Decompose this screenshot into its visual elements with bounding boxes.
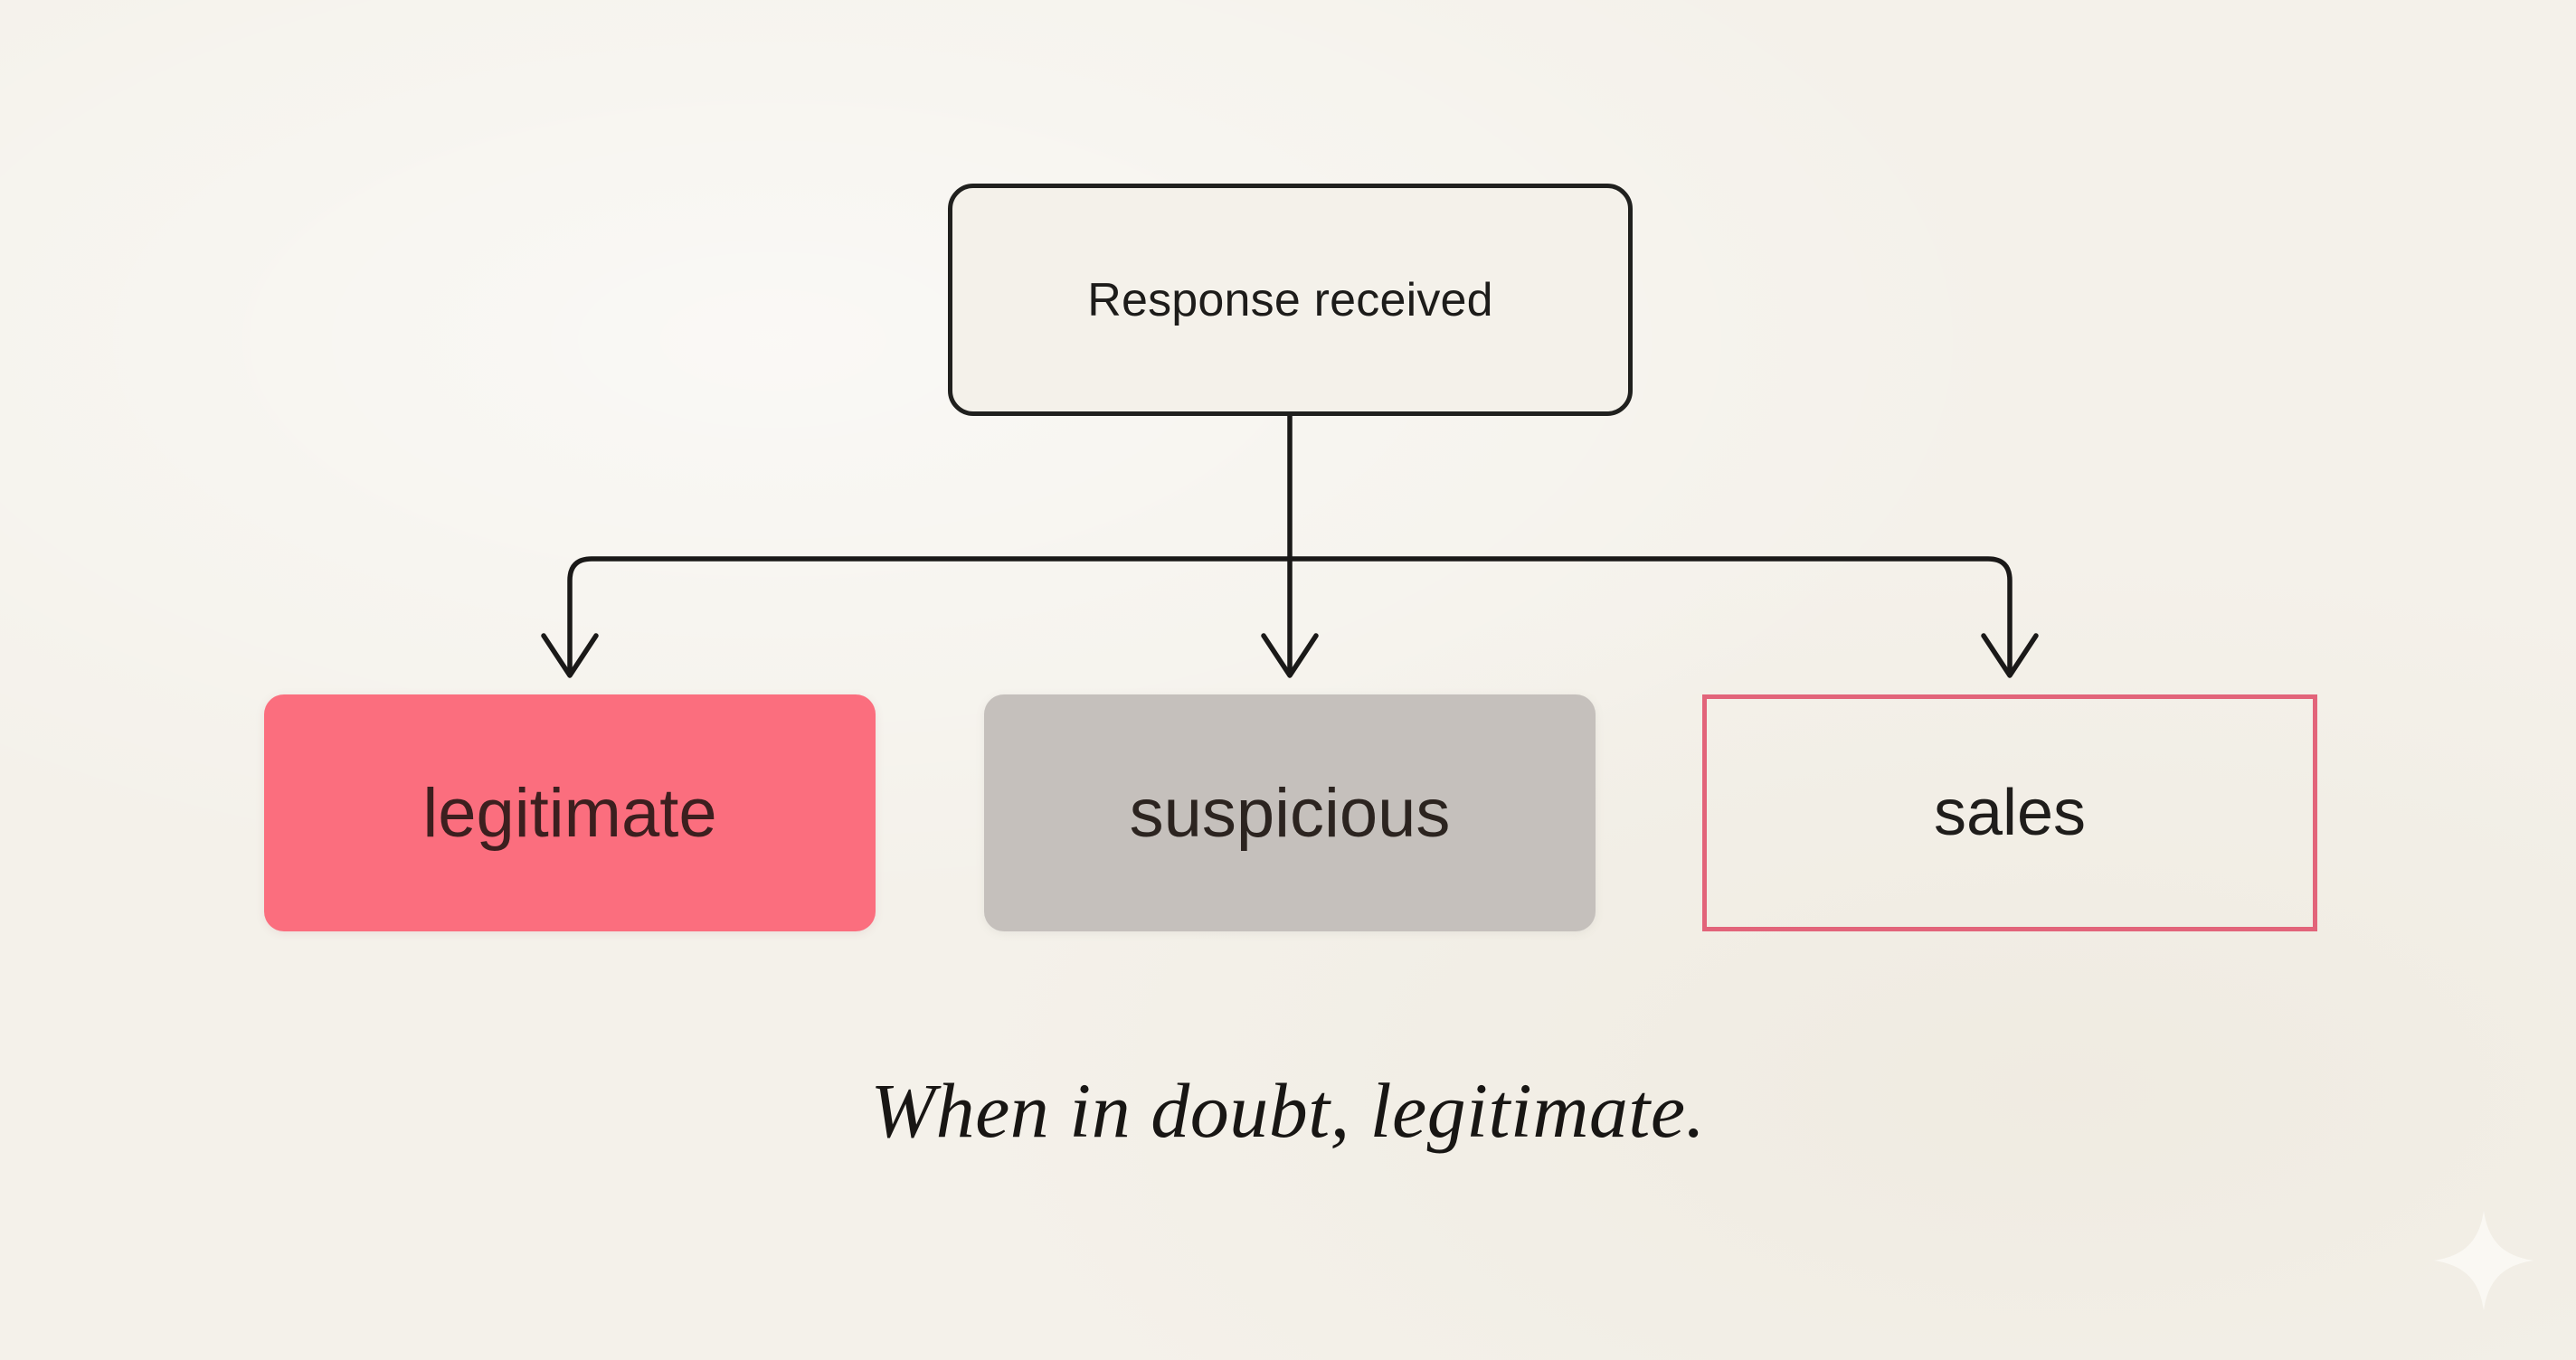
node-sales[interactable]: sales <box>1702 694 2317 931</box>
node-label: sales <box>1934 776 2086 850</box>
node-suspicious[interactable]: suspicious <box>984 694 1596 931</box>
diagram-canvas: Response received legitimate suspicious … <box>0 0 2576 1360</box>
node-response-received[interactable]: Response received <box>948 184 1633 416</box>
node-label: Response received <box>1087 273 1493 327</box>
node-label: legitimate <box>422 774 716 853</box>
node-label: suspicious <box>1130 774 1451 853</box>
caption-text: When in doubt, legitimate. <box>0 1065 2576 1156</box>
node-legitimate[interactable]: legitimate <box>264 694 876 931</box>
sparkle-icon <box>2429 1206 2538 1315</box>
